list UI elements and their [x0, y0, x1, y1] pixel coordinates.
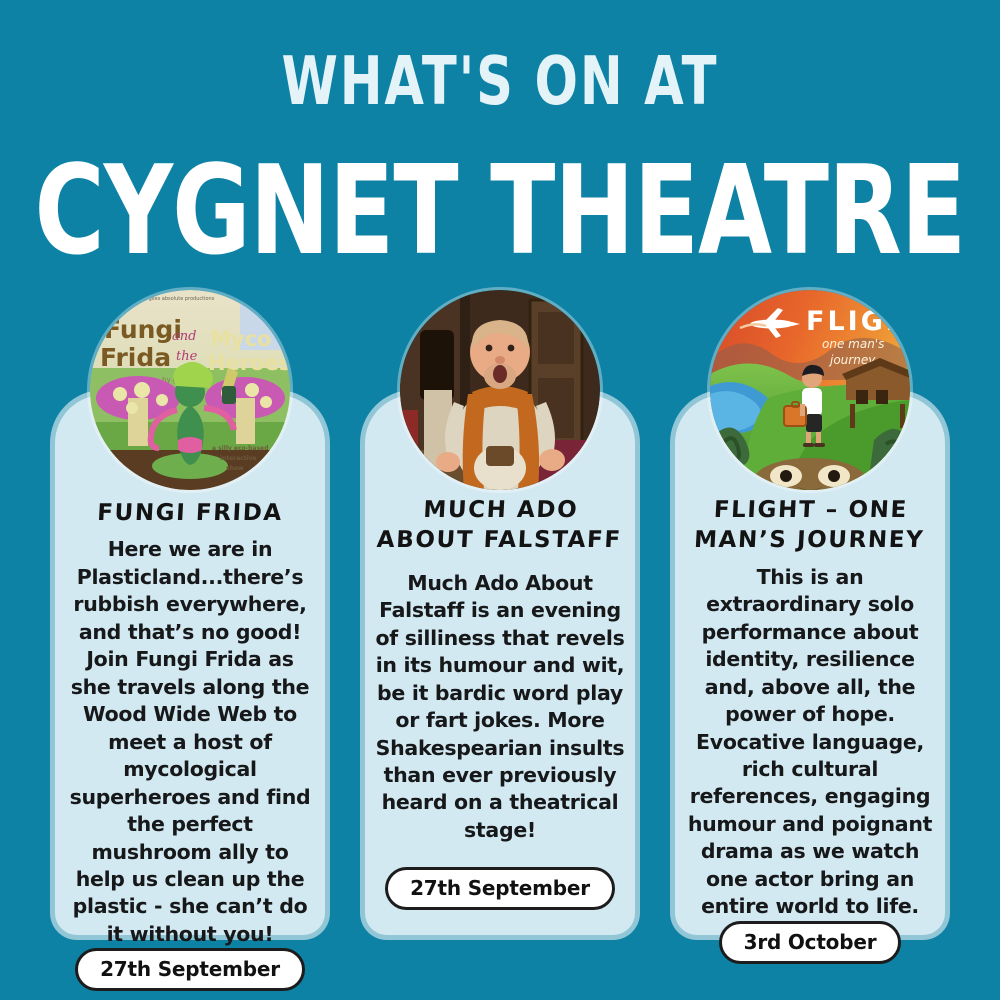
event-title: MUCH ADO ABOUT FALSTAFF — [373, 495, 626, 556]
event-card-row: Fungi Frida and the Myco Heroes by georg… — [0, 0, 1000, 1000]
event-card-flight-one-mans-journey[interactable]: FLIGHT one man's journey — [675, 395, 945, 935]
svg-text:Myco: Myco — [210, 327, 271, 351]
svg-text:Fungi: Fungi — [104, 315, 182, 344]
event-title: FLIGHT – ONE MAN’S JOURNEY — [683, 495, 936, 556]
event-date-badge[interactable]: 27th September — [75, 948, 305, 991]
svg-text:show: show — [226, 465, 244, 472]
flight-poster-image: FLIGHT one man's journey — [710, 290, 910, 490]
event-description: Here we are in Plasticland...there’s rub… — [64, 536, 316, 948]
falstaff-actor-photo — [400, 290, 600, 490]
event-date-badge[interactable]: 3rd October — [719, 921, 902, 964]
event-card-fungi-frida[interactable]: Fungi Frida and the Myco Heroes by georg… — [55, 395, 325, 935]
event-description: This is an extraordinary solo performanc… — [684, 564, 936, 921]
svg-text:FLIGHT: FLIGHT — [806, 306, 910, 337]
svg-text:Frida: Frida — [100, 343, 171, 372]
svg-text:and: and — [172, 329, 196, 344]
svg-text:a silly eco-based: a silly eco-based — [212, 445, 268, 452]
svg-text:one man's: one man's — [822, 337, 884, 351]
fungi-frida-poster-image: Fungi Frida and the Myco Heroes by georg… — [90, 290, 290, 490]
svg-text:presented by giles absolute pr: presented by giles absolute productions — [114, 296, 215, 302]
event-card-much-ado-about-falstaff[interactable]: MUCH ADO ABOUT FALSTAFF Much Ado About F… — [365, 395, 635, 935]
svg-text:interactive: interactive — [220, 455, 257, 462]
svg-text:the: the — [176, 349, 198, 364]
event-title: FUNGI FRIDA — [64, 498, 316, 528]
event-date-badge[interactable]: 27th September — [385, 867, 615, 910]
svg-text:Heroes: Heroes — [208, 351, 290, 375]
event-description: Much Ado About Falstaff is an evening of… — [374, 570, 626, 867]
